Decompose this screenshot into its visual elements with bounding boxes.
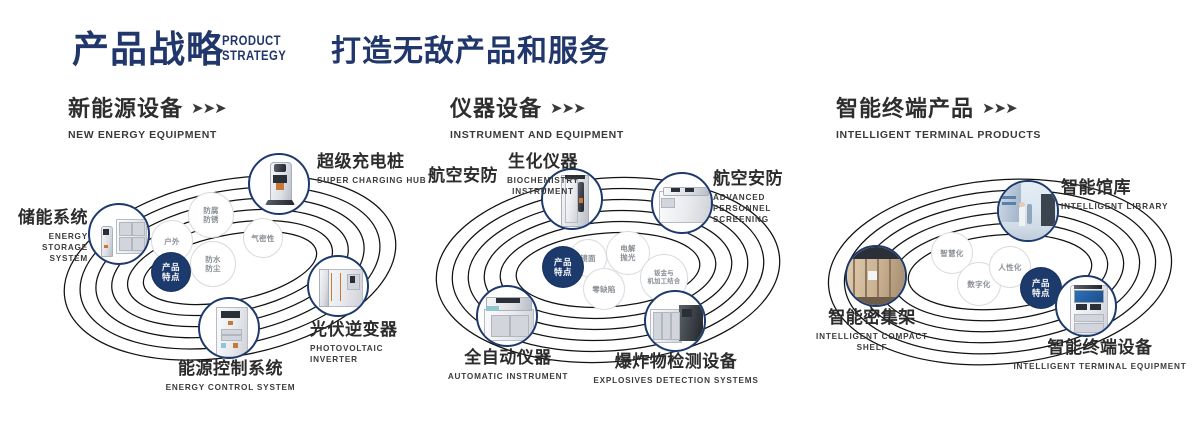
- feature-bubble-label-0-0: 户外: [164, 237, 180, 246]
- section-header-new-energy: 新能源设备➤➤➤ NEW ENERGY EQUIPMENT: [68, 96, 226, 141]
- product-caption-cn-1-3: 全自动仪器: [428, 348, 588, 368]
- feature-bubble-0-2: 防水 防尘: [190, 241, 236, 287]
- product-caption-cn-0-0: 储能系统: [8, 208, 88, 228]
- product-caption-en-1-2: ADVANCED PERSONNEL SCREENING: [713, 192, 808, 225]
- product-caption-cn-2-2: 智能终端设备: [1000, 338, 1200, 358]
- section-title-cn-2: 智能终端产品➤➤➤: [836, 96, 1041, 122]
- feature-bubble-label-0-3: 气密性: [251, 234, 274, 243]
- product-caption-cn-1-4: 爆炸物检测设备: [578, 352, 774, 372]
- charging-hub-photo: [250, 155, 308, 213]
- product-node-terminal-equipment[interactable]: [1055, 275, 1117, 337]
- product-caption-automatic-instrument: 全自动仪器 AUTOMATIC INSTRUMENT: [428, 348, 588, 382]
- explosives-detection-photo: [646, 292, 704, 350]
- product-caption-cn-1-2: 航空安防: [713, 169, 808, 189]
- product-strategy-infographic: 产品战略 PRODUCT STRATEGY 打造无敌产品和服务 新能源设备➤➤➤…: [0, 0, 1200, 422]
- product-caption-cn-2-0: 智能馆库: [1061, 178, 1168, 198]
- center-badge-0: 产品 特点: [152, 253, 190, 291]
- feature-bubble-label-1-3: 钣金与 机加工结合: [648, 270, 681, 286]
- product-node-compact-shelf[interactable]: [845, 245, 907, 307]
- page-title-en-line1: PRODUCT: [222, 33, 286, 48]
- feature-bubble-label-2-0: 智慧化: [940, 249, 963, 258]
- feature-bubble-label-0-1: 防腐 防锈: [203, 206, 219, 224]
- section-title-en-1: INSTRUMENT AND EQUIPMENT: [450, 129, 624, 141]
- product-caption-cn-2-1: 智能密集架: [782, 308, 962, 328]
- section-title-en-0: NEW ENERGY EQUIPMENT: [68, 129, 226, 141]
- feature-bubble-label-1-0: 镜面: [580, 254, 596, 263]
- product-node-automatic-instrument[interactable]: [476, 285, 538, 347]
- product-caption-en-2-2: INTELLIGENT TERMINAL EQUIPMENT: [1000, 361, 1200, 372]
- product-caption-cn-0-3: 能源控制系统: [138, 359, 323, 379]
- personnel-screening-photo: [653, 174, 711, 232]
- product-caption-en-1-3: AUTOMATIC INSTRUMENT: [428, 371, 588, 382]
- chevron-right-icon-0: ➤➤➤: [191, 96, 226, 122]
- section-title-cn-text-0: 新能源设备: [68, 96, 183, 121]
- product-caption-en-2-0: INTELLIGENT LIBRARY: [1061, 201, 1168, 212]
- cluster-intelligent-terminal: 智慧化 数字化 人性化 产品 特点 智能馆库 INTELLIGENT LIBRA…: [800, 150, 1200, 415]
- center-badge-label-0: 产品 特点: [162, 262, 180, 282]
- product-caption-terminal-equipment: 智能终端设备 INTELLIGENT TERMINAL EQUIPMENT: [1000, 338, 1200, 372]
- page-title-en: PRODUCT STRATEGY: [222, 33, 286, 63]
- page-title-cn: 产品战略: [72, 28, 224, 72]
- product-caption-intelligent-library: 智能馆库 INTELLIGENT LIBRARY: [1061, 178, 1168, 212]
- product-node-energy-control[interactable]: [198, 297, 260, 359]
- pv-inverter-photo: [309, 257, 367, 315]
- product-caption-compact-shelf: 智能密集架 INTELLIGENT COMPACT SHELF: [782, 308, 962, 353]
- section-header-intelligent: 智能终端产品➤➤➤ INTELLIGENT TERMINAL PRODUCTS: [836, 96, 1041, 141]
- section-title-cn-0: 新能源设备➤➤➤: [68, 96, 226, 122]
- product-node-explosives-detection[interactable]: [644, 290, 706, 352]
- energy-control-photo: [200, 299, 258, 357]
- section-title-en-2: INTELLIGENT TERMINAL PRODUCTS: [836, 129, 1041, 141]
- section-title-cn-text-1: 仪器设备: [450, 96, 542, 121]
- product-caption-en-1-1: BIOCHEMISTRY INSTRUMENT: [468, 175, 618, 197]
- product-caption-en-2-1: INTELLIGENT COMPACT SHELF: [782, 331, 962, 353]
- intelligent-library-photo: [999, 182, 1057, 240]
- page-header: 产品战略 PRODUCT STRATEGY 打造无敌产品和服务: [0, 0, 1200, 90]
- section-title-cn-1: 仪器设备➤➤➤: [450, 96, 624, 122]
- feature-bubble-label-1-2: 零缺陷: [592, 285, 615, 294]
- feature-bubble-0-1: 防腐 防锈: [188, 192, 234, 238]
- product-caption-energy-storage: 储能系统 ENERGY STORAGE SYSTEM: [8, 208, 88, 264]
- center-badge-label-1: 产品 特点: [554, 257, 572, 277]
- compact-shelf-photo: [847, 247, 905, 305]
- page-title-en-line2: STRATEGY: [222, 48, 286, 63]
- feature-bubble-label-1-1: 电解 抛光: [620, 244, 636, 262]
- feature-bubble-label-2-2: 人性化: [998, 263, 1021, 272]
- page-subtitle-cn: 打造无敌产品和服务: [331, 32, 610, 72]
- product-caption-personnel-screening: 航空安防 ADVANCED PERSONNEL SCREENING: [713, 169, 808, 225]
- product-caption-cn-1-1: 生化仪器: [468, 152, 618, 172]
- feature-bubble-label-0-2: 防水 防尘: [205, 255, 221, 273]
- product-caption-en-1-4: EXPLOSIVES DETECTION SYSTEMS: [578, 375, 774, 386]
- product-caption-explosives-detection: 爆炸物检测设备 EXPLOSIVES DETECTION SYSTEMS: [578, 352, 774, 386]
- product-node-energy-storage[interactable]: [88, 203, 150, 265]
- feature-bubble-1-2: 零缺陷: [583, 268, 625, 310]
- product-node-personnel-screening[interactable]: [651, 172, 713, 234]
- product-node-intelligent-library[interactable]: [997, 180, 1059, 242]
- automatic-instrument-photo: [478, 287, 536, 345]
- product-caption-energy-control: 能源控制系统 ENERGY CONTROL SYSTEM: [138, 359, 323, 393]
- terminal-equipment-photo: [1057, 277, 1115, 335]
- product-caption-en-0-3: ENERGY CONTROL SYSTEM: [138, 382, 323, 393]
- cluster-instrument: 镜面 电解 抛光 零缺陷 钣金与 机加工结合 产品 特点 航空安防 生化仪器 B…: [408, 150, 808, 415]
- product-caption-biochemistry: 生化仪器 BIOCHEMISTRY INSTRUMENT: [468, 152, 618, 197]
- product-node-pv-inverter[interactable]: [307, 255, 369, 317]
- chevron-right-icon-2: ➤➤➤: [982, 96, 1017, 122]
- feature-bubble-0-3: 气密性: [243, 218, 283, 258]
- chevron-right-icon-1: ➤➤➤: [550, 96, 585, 122]
- cluster-new-energy: 户外 防腐 防锈 防水 防尘 气密性 产品 特点 储能系统 ENERGY STO…: [30, 150, 430, 415]
- product-node-charging-hub[interactable]: [248, 153, 310, 215]
- section-header-instrument: 仪器设备➤➤➤ INSTRUMENT AND EQUIPMENT: [450, 96, 624, 141]
- energy-storage-photo: [90, 205, 148, 263]
- center-badge-label-2: 产品 特点: [1032, 278, 1050, 298]
- feature-bubble-label-2-1: 数字化: [967, 280, 990, 289]
- center-badge-1: 产品 特点: [543, 247, 583, 287]
- product-caption-en-0-0: ENERGY STORAGE SYSTEM: [8, 231, 88, 264]
- section-title-cn-text-2: 智能终端产品: [836, 96, 974, 121]
